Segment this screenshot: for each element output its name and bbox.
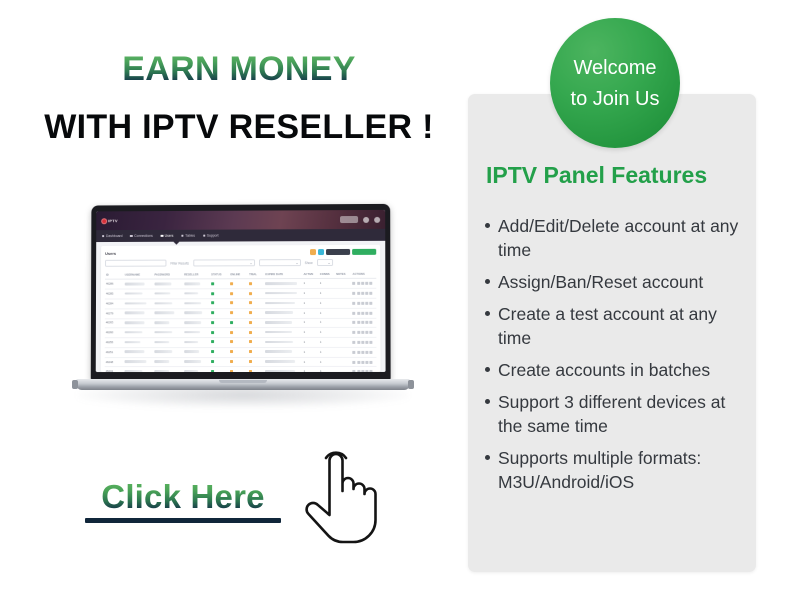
- dashboard-nav: Dashboard Connections Users Tables: [96, 229, 385, 242]
- cell-reseller: [183, 328, 210, 338]
- cell-expire: [264, 298, 302, 308]
- cell-conns: 1: [319, 298, 335, 308]
- cell-status: [210, 357, 229, 367]
- cell-id: 46260: [105, 328, 124, 338]
- cell-notes: [335, 367, 351, 372]
- user-icon: [161, 235, 163, 237]
- nav-item-label: Users: [165, 234, 174, 238]
- cell-online: [229, 357, 248, 367]
- col-notes[interactable]: NOTES: [335, 271, 351, 279]
- banner-canvas: EARN MONEY WITH IPTV RESELLER ! IPTV: [0, 0, 800, 598]
- table-row[interactable]: 4627911: [105, 308, 377, 318]
- cell-username: [124, 347, 154, 357]
- cell-reseller: [183, 308, 210, 318]
- search-pill[interactable]: [340, 216, 358, 223]
- cell-password: [153, 308, 183, 318]
- cell-expire: [264, 367, 302, 372]
- lifebuoy-icon: [203, 234, 205, 236]
- cell-notes: [335, 279, 351, 289]
- cell-reseller: [183, 279, 210, 289]
- show-label: Show: [305, 261, 313, 265]
- cell-id: 46248: [105, 357, 124, 367]
- cell-actions: [352, 288, 377, 298]
- cell-status: [210, 318, 229, 328]
- cell-online: [229, 308, 248, 318]
- cell-password: [153, 328, 183, 338]
- nav-item-label: Connections: [134, 234, 153, 238]
- bell-icon[interactable]: [363, 216, 369, 222]
- cell-online: [229, 338, 248, 348]
- cell-trial: [248, 289, 264, 299]
- nav-item-label: Tables: [185, 234, 195, 238]
- gear-icon[interactable]: [374, 216, 380, 222]
- col-actions: ACTIONS: [352, 271, 377, 279]
- nav-item-connections[interactable]: Connections: [130, 234, 153, 238]
- users-filter-bar: Filter Results Show: [105, 259, 376, 267]
- welcome-badge: Welcome to Join Us: [550, 18, 680, 148]
- link-icon: [130, 235, 132, 237]
- cell-actions: [352, 318, 377, 328]
- cell-expire: [264, 289, 302, 299]
- cell-active: 1: [303, 357, 319, 367]
- cell-actions: [352, 279, 377, 289]
- cell-actions: [352, 347, 377, 357]
- cell-active: 1: [303, 318, 319, 328]
- dashboard-topbar: IPTV: [96, 210, 385, 230]
- headline-primary: EARN MONEY: [0, 48, 478, 90]
- cell-status: [210, 289, 229, 299]
- click-here-label: Click Here: [78, 478, 288, 516]
- dashboard-logo[interactable]: IPTV: [101, 218, 118, 224]
- cell-reseller: [183, 318, 210, 328]
- cell-notes: [335, 337, 351, 347]
- cell-online: [229, 279, 248, 289]
- cell-reseller: [183, 338, 210, 348]
- cell-id: 46255: [105, 338, 124, 348]
- cell-password: [153, 279, 183, 289]
- table-row[interactable]: 4628411: [105, 298, 376, 308]
- cell-online: [229, 347, 248, 357]
- cell-active: 1: [303, 298, 319, 308]
- refresh-button[interactable]: [310, 249, 316, 255]
- cell-trial: [248, 308, 264, 318]
- users-panel: Users Filter Results: [101, 245, 381, 372]
- welcome-badge-line-2: to Join Us: [571, 84, 660, 114]
- headline-secondary: WITH IPTV RESELLER !: [0, 106, 478, 148]
- cell-online: [229, 318, 248, 328]
- col-online[interactable]: ONLINE: [229, 271, 248, 279]
- col-expire[interactable]: EXPIRE DATE: [264, 271, 302, 279]
- col-reseller[interactable]: RESELLER: [183, 271, 210, 279]
- cell-id: 46286: [105, 279, 124, 289]
- cell-active: 1: [303, 308, 319, 318]
- cell-conns: 1: [319, 279, 335, 289]
- cell-notes: [335, 289, 351, 299]
- col-id[interactable]: ID: [105, 272, 124, 280]
- welcome-badge-line-1: Welcome: [574, 53, 657, 83]
- cell-status: [210, 299, 229, 309]
- dashboard-body: Users Filter Results: [96, 241, 386, 372]
- feature-list-item: Add/Edit/Delete account at any time: [478, 214, 748, 262]
- cell-username: [124, 357, 154, 367]
- cell-conns: 1: [319, 357, 335, 367]
- status-select[interactable]: [259, 259, 301, 266]
- cell-status: [210, 308, 229, 318]
- cell-expire: [264, 328, 302, 338]
- dashboard-topbar-actions: [340, 210, 380, 229]
- cell-notes: [335, 357, 351, 367]
- cell-notes: [335, 308, 351, 318]
- col-conns[interactable]: CONNS: [319, 271, 335, 279]
- cell-online: [229, 289, 248, 299]
- cell-trial: [248, 279, 264, 289]
- feature-list-item: Create accounts in batches: [478, 358, 748, 382]
- cell-status: [210, 367, 229, 372]
- cell-actions: [352, 328, 377, 338]
- click-here-underline: [85, 518, 281, 523]
- features-list: Add/Edit/Delete account at any timeAssig…: [478, 214, 748, 502]
- nav-item-label: Dashboard: [106, 234, 122, 238]
- table-row[interactable]: 4625111: [105, 347, 377, 357]
- table-row[interactable]: 4624811: [105, 357, 377, 367]
- cell-notes: [335, 298, 351, 308]
- cell-username: [124, 289, 154, 299]
- users-table-body: 4628611462851146284114627911462651146260…: [105, 279, 377, 372]
- cell-username: [124, 318, 154, 328]
- cell-password: [153, 289, 183, 299]
- laptop-base-foot-left: [72, 380, 78, 389]
- create-user-button[interactable]: [352, 249, 376, 255]
- cell-username: [124, 279, 154, 289]
- reseller-select[interactable]: [193, 259, 255, 266]
- cell-expire: [264, 308, 302, 318]
- col-username[interactable]: USERNAME: [124, 272, 154, 280]
- cell-conns: 1: [319, 328, 335, 338]
- cell-actions: [352, 308, 377, 318]
- filter-results-label: Filter Results: [170, 261, 188, 265]
- cell-trial: [248, 299, 264, 309]
- feature-list-item: Support 3 different devices at the same …: [478, 390, 748, 438]
- create-package-button[interactable]: [326, 249, 350, 255]
- cell-trial: [248, 328, 264, 338]
- cell-actions: [352, 357, 377, 367]
- nav-item-support[interactable]: Support: [203, 234, 219, 238]
- cell-trial: [248, 318, 264, 328]
- cell-id: 46284: [105, 299, 124, 309]
- cell-id: 46241: [105, 367, 124, 372]
- col-password[interactable]: PASSWORD: [153, 271, 183, 279]
- cell-conns: 1: [319, 289, 335, 299]
- cell-password: [153, 357, 183, 367]
- users-panel-header: Users: [105, 249, 376, 256]
- cell-password: [153, 338, 183, 348]
- cell-status: [210, 338, 229, 348]
- page-size-select[interactable]: [317, 259, 333, 266]
- cell-expire: [264, 279, 302, 289]
- features-panel: IPTV Panel Features Add/Edit/Delete acco…: [468, 94, 756, 572]
- cell-expire: [264, 347, 302, 357]
- cell-username: [124, 309, 154, 319]
- cell-online: [229, 367, 248, 372]
- click-here-cta[interactable]: Click Here: [78, 478, 288, 523]
- users-page-title: Users: [105, 250, 116, 255]
- users-table: ID USERNAME PASSWORD RESELLER STATUS ONL…: [105, 271, 377, 372]
- cell-conns: 1: [319, 318, 335, 328]
- feature-list-item: Create a test account at any time: [478, 302, 748, 350]
- cell-username: [124, 338, 154, 348]
- table-row[interactable]: 4624111: [105, 367, 377, 372]
- cell-id: 46279: [105, 309, 124, 319]
- feature-list-item: Supports multiple formats: M3U/Android/i…: [478, 446, 748, 494]
- cell-reseller: [183, 357, 210, 367]
- cell-reseller: [183, 289, 210, 299]
- cell-status: [210, 347, 229, 357]
- cell-password: [153, 367, 183, 372]
- logo-text: IPTV: [108, 218, 118, 223]
- nav-item-tables[interactable]: Tables: [181, 234, 195, 238]
- cell-expire: [264, 357, 302, 367]
- logo-mark-icon: [101, 218, 107, 224]
- cell-actions: [352, 337, 377, 347]
- table-icon: [181, 235, 183, 237]
- cell-reseller: [183, 347, 210, 357]
- cell-password: [153, 299, 183, 309]
- feature-list-item: Assign/Ban/Reset account: [478, 270, 748, 294]
- laptop-lid: IPTV Dashboard Co: [91, 204, 391, 381]
- cell-trial: [248, 367, 264, 372]
- nav-item-label: Support: [207, 234, 219, 238]
- laptop-mockup: IPTV Dashboard Co: [60, 196, 425, 421]
- nav-item-users[interactable]: Users: [161, 234, 174, 238]
- cell-conns: 1: [319, 337, 335, 347]
- cell-active: 1: [303, 289, 319, 299]
- features-panel-title: IPTV Panel Features: [486, 162, 707, 189]
- table-row[interactable]: 4626011: [105, 328, 377, 338]
- cell-username: [124, 299, 154, 309]
- cell-username: [124, 328, 154, 338]
- cell-conns: 1: [319, 347, 335, 357]
- laptop-base: [76, 379, 410, 390]
- cell-active: 1: [303, 347, 319, 357]
- cell-notes: [335, 347, 351, 357]
- nav-active-caret-icon: [173, 242, 179, 245]
- cell-username: [124, 367, 154, 372]
- cell-password: [153, 347, 183, 357]
- laptop-base-foot-right: [408, 380, 414, 389]
- search-input[interactable]: [105, 260, 166, 267]
- cell-reseller: [183, 367, 210, 372]
- cell-active: 1: [303, 367, 319, 372]
- cell-status: [210, 279, 229, 289]
- nav-item-dashboard[interactable]: Dashboard: [102, 234, 122, 238]
- cell-online: [229, 328, 248, 338]
- cell-trial: [248, 347, 264, 357]
- cell-password: [153, 318, 183, 328]
- table-row[interactable]: 4626511: [105, 318, 377, 328]
- cell-expire: [264, 338, 302, 348]
- cell-active: 1: [303, 338, 319, 348]
- cell-id: 46285: [105, 289, 124, 299]
- grid-icon: [102, 235, 104, 237]
- pointing-hand-cursor-icon: [298, 438, 384, 548]
- cell-active: 1: [303, 328, 319, 338]
- cell-notes: [335, 328, 351, 338]
- col-trial[interactable]: TRIAL: [248, 271, 264, 279]
- cell-id: 46251: [105, 347, 124, 357]
- cell-id: 46265: [105, 318, 124, 328]
- cell-actions: [352, 298, 377, 308]
- cell-actions: [352, 367, 377, 372]
- cell-conns: 1: [319, 367, 335, 372]
- table-row[interactable]: 4625511: [105, 337, 377, 347]
- col-status[interactable]: STATUS: [210, 271, 229, 279]
- cell-notes: [335, 318, 351, 328]
- cell-conns: 1: [319, 308, 335, 318]
- cell-expire: [264, 318, 302, 328]
- col-active[interactable]: ACTIVE: [302, 271, 318, 279]
- cell-trial: [248, 338, 264, 348]
- cell-status: [210, 328, 229, 338]
- cell-trial: [248, 357, 264, 367]
- cell-online: [229, 299, 248, 309]
- cell-reseller: [183, 299, 210, 309]
- laptop-screen: IPTV Dashboard Co: [96, 210, 386, 372]
- cell-active: 1: [302, 279, 318, 289]
- export-button[interactable]: [318, 249, 324, 255]
- users-panel-actions: [310, 249, 376, 255]
